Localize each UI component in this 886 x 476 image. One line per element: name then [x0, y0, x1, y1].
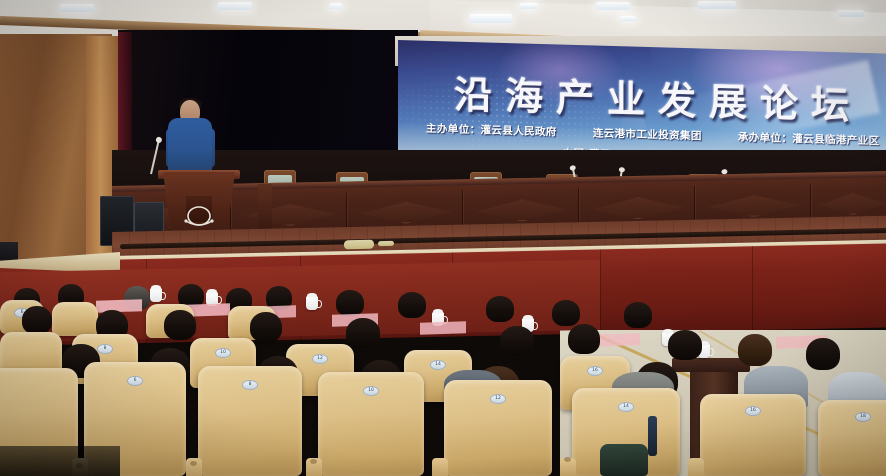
teacup	[150, 288, 162, 302]
audience-head	[22, 306, 52, 334]
audience-head	[500, 326, 534, 356]
ceiling-light	[218, 2, 252, 10]
banner-organizer-second: 连云港市工业投资集团	[593, 125, 702, 143]
audience-head	[738, 334, 772, 366]
umbrella	[648, 416, 657, 456]
ceiling-light	[596, 2, 630, 10]
seat-number-badge: 16	[587, 366, 603, 376]
audience-head	[164, 310, 196, 340]
audience-head	[668, 330, 702, 360]
ceiling-light	[698, 1, 736, 9]
panel-seam	[752, 246, 753, 330]
audience-head	[398, 292, 426, 318]
auditorium-seat-front: 18	[818, 400, 886, 476]
seat-number-badge: 12	[490, 394, 506, 404]
audience-head	[624, 302, 652, 328]
auditorium-seat	[52, 302, 98, 336]
seat-number-badge: 10	[215, 348, 231, 358]
podium-emblem-icon	[180, 205, 218, 231]
auditorium-seat-front: 10	[318, 372, 424, 476]
side-table	[672, 358, 750, 372]
seat-number-badge: 6	[127, 376, 143, 386]
audience-head	[806, 338, 840, 370]
auditorium-seat-front: 16	[700, 394, 806, 476]
ceiling-light	[470, 14, 512, 23]
seat-aisle-shadow	[0, 446, 120, 476]
ceiling-light	[60, 4, 94, 12]
ceiling-light	[330, 3, 342, 9]
backpack	[600, 444, 648, 476]
seat-number-badge: 18	[855, 412, 871, 422]
seat-number-badge: 14	[430, 360, 446, 370]
desk-paper	[420, 321, 466, 335]
panel-seam	[600, 249, 601, 333]
audience-head	[336, 290, 364, 316]
banner-main-title: 沿海产业发展论坛	[454, 64, 862, 130]
ceiling-light	[520, 3, 538, 9]
seat-number-badge: 14	[618, 402, 634, 412]
conference-hall-photo: 沿海产业发展论坛 主办单位：灌云县人民政府 连云港市工业投资集团 承办单位：灌云…	[0, 0, 886, 476]
audience-head	[568, 324, 600, 354]
teacup	[306, 296, 318, 310]
seat-number-badge: 10	[363, 386, 379, 396]
auditorium-seat-front: 8	[198, 366, 302, 476]
ceiling-light	[838, 10, 864, 17]
speaker-torso	[168, 118, 212, 174]
audience-head	[486, 296, 514, 322]
seat-number-badge: 16	[745, 406, 761, 416]
seat-number-badge: 8	[242, 380, 258, 390]
audience-head	[552, 300, 580, 326]
seat-number-badge: 8	[97, 344, 113, 354]
stage-object	[344, 240, 374, 250]
stage-object	[378, 241, 394, 246]
auditorium-seat-front: 12	[444, 380, 552, 476]
ceiling-light	[620, 16, 636, 21]
seat-number-badge: 12	[312, 354, 328, 364]
